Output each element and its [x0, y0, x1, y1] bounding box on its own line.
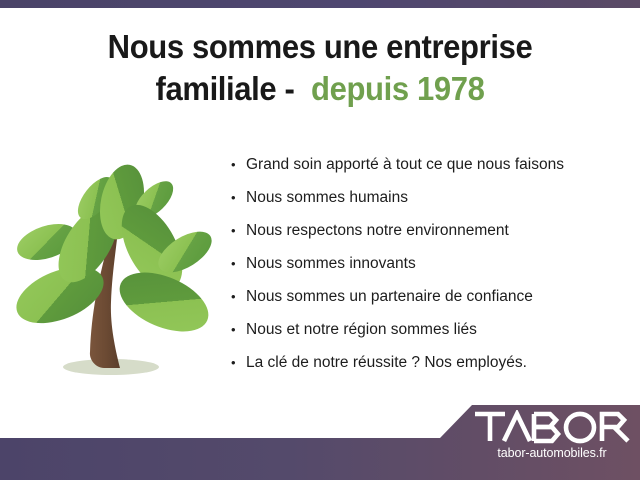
list-item: • Nous sommes humains [231, 181, 631, 214]
bullet-icon: • [231, 280, 246, 313]
bullet-icon: • [231, 247, 246, 280]
headline-accent: depuis 1978 [311, 70, 484, 107]
bullet-icon: • [231, 148, 246, 181]
value-list: • Grand soin apporté à tout ce que nous … [231, 148, 631, 379]
list-item: • Nous sommes un partenaire de confiance [231, 280, 631, 313]
headline-dash: - [285, 70, 295, 107]
headline-line-2: familiale - depuis 1978 [19, 68, 621, 110]
list-item-label: Nous sommes innovants [246, 247, 416, 280]
tabor-wordmark [472, 410, 632, 444]
list-item-label: Nous et notre région sommes liés [246, 313, 477, 346]
bullet-icon: • [231, 346, 246, 379]
list-item: • La clé de notre réussite ? Nos employé… [231, 346, 631, 379]
top-accent-bar [0, 0, 640, 8]
list-item: • Grand soin apporté à tout ce que nous … [231, 148, 631, 181]
bullet-icon: • [231, 313, 246, 346]
list-item: • Nous sommes innovants [231, 247, 631, 280]
list-item: • Nous respectons notre environnement [231, 214, 631, 247]
slide-canvas: Nous sommes une entreprise familiale - d… [0, 0, 640, 480]
bullet-icon: • [231, 181, 246, 214]
bullet-icon: • [231, 214, 246, 247]
headline-line-1: Nous sommes une entreprise [19, 26, 621, 68]
list-item-label: Nous respectons notre environnement [246, 214, 509, 247]
list-item-label: La clé de notre réussite ? Nos employés. [246, 346, 527, 379]
page-title: Nous sommes une entreprise familiale - d… [19, 26, 621, 110]
list-item-label: Nous sommes un partenaire de confiance [246, 280, 533, 313]
list-item-label: Nous sommes humains [246, 181, 408, 214]
list-item-label: Grand soin apporté à tout ce que nous fa… [246, 148, 564, 181]
list-item: • Nous et notre région sommes liés [231, 313, 631, 346]
tabor-logo[interactable]: tabor-automobiles.fr [472, 410, 632, 472]
logo-tagline: tabor-automobiles.fr [472, 446, 632, 460]
tree-icon [12, 152, 217, 382]
headline-prefix: familiale [156, 70, 277, 107]
